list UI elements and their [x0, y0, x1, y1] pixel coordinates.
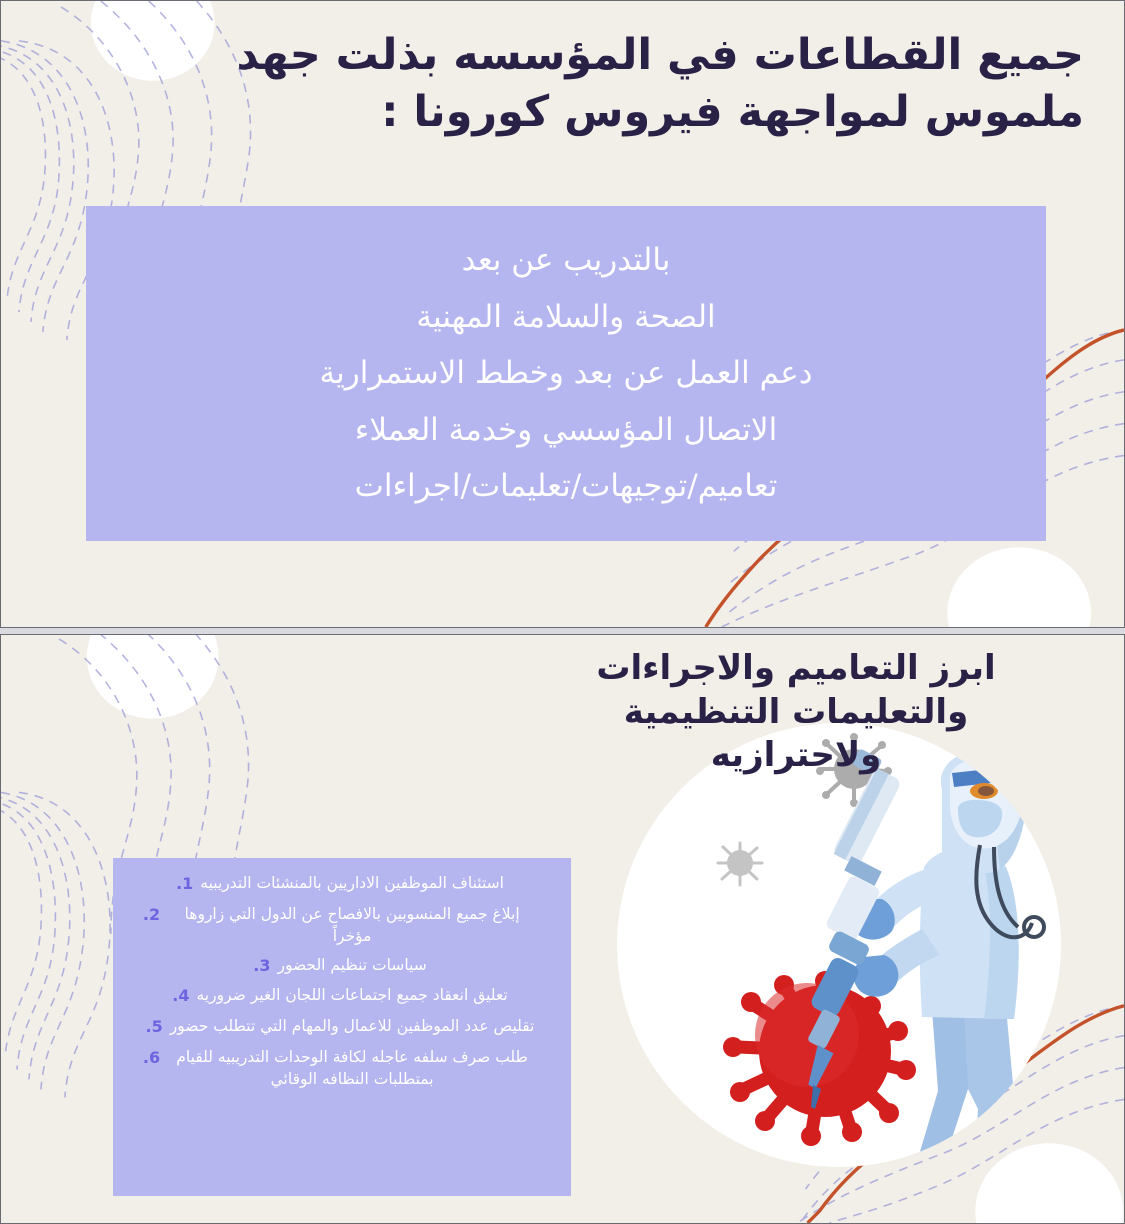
slide-deck: جميع القطاعات في المؤسسه بذلت جهد ملموس …	[0, 0, 1125, 1224]
slide-2[interactable]: ابرز التعاميم والاجراءات والتعليمات التن…	[0, 634, 1125, 1224]
list-item-text: تعليق انعقاد جميع اجتماعات اللجان الغير …	[196, 984, 507, 1006]
content-line: الاتصال المؤسسي وخدمة العملاء	[355, 402, 777, 458]
list-item: سياسات تنظيم الحضور 3.	[123, 954, 557, 978]
list-item-number: 6.	[143, 1046, 160, 1070]
list-item-text: استئناف الموظفين الاداريين بالمنشئات الت…	[200, 872, 504, 894]
list-item-number: 3.	[253, 954, 270, 978]
list-item-text: سياسات تنظيم الحضور	[278, 954, 427, 976]
slide-1-content-box: بالتدريب عن بعد الصحة والسلامة المهنية د…	[86, 206, 1046, 541]
list-item: تعليق انعقاد جميع اجتماعات اللجان الغير …	[123, 984, 557, 1008]
list-item: إبلاغ جميع المنسوبين بالافصاح عن الدول ا…	[123, 903, 557, 947]
list-item: تقليص عدد الموظفين للاعمال والمهام التي …	[123, 1015, 557, 1039]
slide-1-title: جميع القطاعات في المؤسسه بذلت جهد ملموس …	[151, 27, 1084, 141]
slide-2-heading-line-3: ولاحترازيه	[711, 735, 882, 775]
list-item-text: طلب صرف سلفه عاجله لكافة الوحدات التدريب…	[167, 1046, 537, 1090]
list-item-number: 1.	[176, 872, 193, 896]
slide-2-heading-line-2: والتعليمات التنظيمية	[624, 692, 968, 732]
slide-2-heading: ابرز التعاميم والاجراءات والتعليمات التن…	[1, 647, 1124, 778]
slide-1-title-line-2: ملموس لمواجهة فيروس كورونا :	[381, 87, 1084, 137]
slide-2-heading-line-1: ابرز التعاميم والاجراءات	[596, 648, 995, 688]
slide-1-title-line-1: جميع القطاعات في المؤسسه بذلت جهد	[236, 30, 1084, 80]
coronavirus-vaccination-illustration	[602, 717, 1076, 1187]
content-line: تعاميم/توجيهات/تعليمات/اجراءات	[355, 458, 778, 514]
list-item-text: تقليص عدد الموظفين للاعمال والمهام التي …	[170, 1015, 535, 1037]
content-line: دعم العمل عن بعد وخطط الاستمرارية	[319, 345, 812, 401]
slide-1[interactable]: جميع القطاعات في المؤسسه بذلت جهد ملموس …	[0, 0, 1125, 628]
slide-2-list-box: استئناف الموظفين الاداريين بالمنشئات الت…	[113, 858, 571, 1196]
content-line: الصحة والسلامة المهنية	[416, 289, 715, 345]
list-item: طلب صرف سلفه عاجله لكافة الوحدات التدريب…	[123, 1046, 557, 1090]
white-blob-shape-2	[947, 547, 1091, 627]
list-item-text: إبلاغ جميع المنسوبين بالافصاح عن الدول ا…	[167, 903, 537, 947]
list-item-number: 4.	[172, 984, 189, 1008]
list-item-number: 5.	[146, 1015, 163, 1039]
list-item-number: 2.	[143, 903, 160, 927]
list-item: استئناف الموظفين الاداريين بالمنشئات الت…	[123, 872, 557, 896]
content-line: بالتدريب عن بعد	[462, 232, 671, 288]
